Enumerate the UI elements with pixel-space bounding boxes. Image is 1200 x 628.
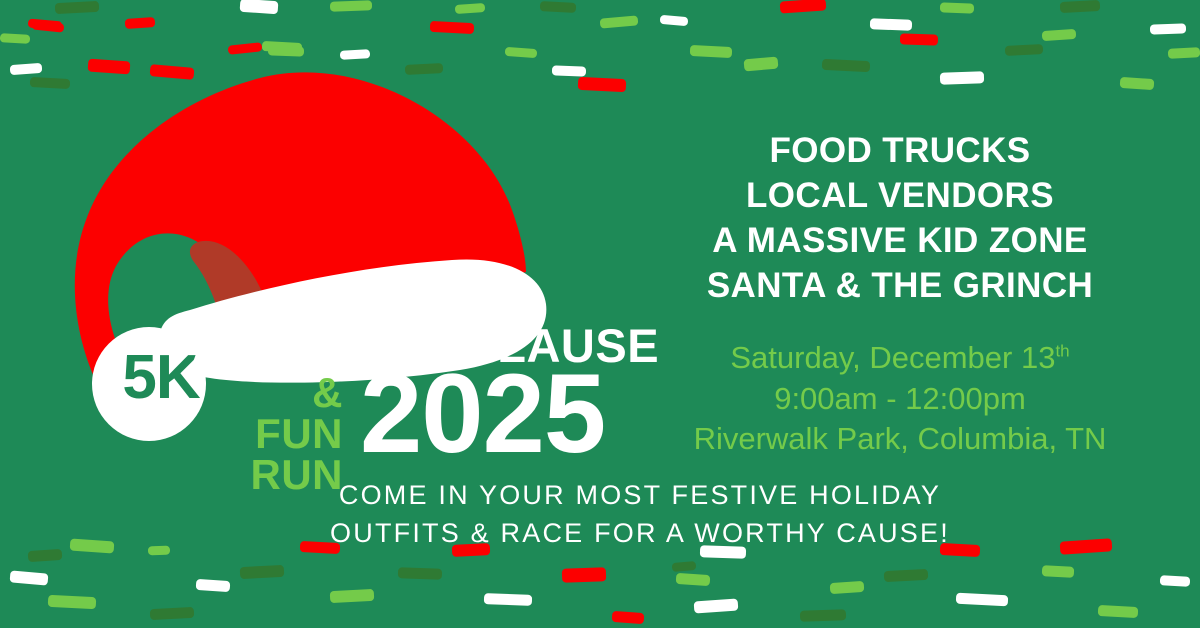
confetti-piece bbox=[330, 589, 375, 603]
event-details: Saturday, December 13th 9:00am - 12:00pm… bbox=[640, 338, 1160, 460]
confetti-piece bbox=[1160, 575, 1190, 587]
event-tagline: COME IN YOUR MOST FESTIVE HOLIDAY OUTFIT… bbox=[200, 476, 1080, 553]
confetti-piece bbox=[600, 15, 639, 28]
event-subtitle-line-1: & FUN bbox=[215, 372, 343, 454]
feature-item: SANTA & THE GRINCH bbox=[640, 263, 1160, 308]
confetti-piece bbox=[240, 565, 285, 579]
confetti-piece bbox=[800, 609, 846, 622]
confetti-piece bbox=[612, 611, 645, 624]
confetti-piece bbox=[48, 595, 97, 609]
confetti-piece bbox=[430, 21, 475, 34]
confetti-piece bbox=[676, 573, 711, 586]
confetti-piece bbox=[1042, 565, 1075, 578]
confetti-piece bbox=[70, 538, 115, 553]
feature-item: LOCAL VENDORS bbox=[640, 173, 1160, 218]
confetti-piece bbox=[330, 0, 372, 11]
event-tagline-line-2: OUTFITS & RACE FOR A WORTHY CAUSE! bbox=[200, 514, 1080, 552]
confetti-piece bbox=[660, 15, 689, 26]
confetti-piece bbox=[694, 598, 739, 613]
confetti-piece bbox=[148, 546, 170, 556]
confetti-piece bbox=[1098, 605, 1139, 618]
confetti-piece bbox=[1120, 77, 1155, 90]
confetti-piece bbox=[340, 49, 370, 60]
confetti-piece bbox=[262, 41, 302, 53]
confetti-piece bbox=[150, 607, 195, 620]
event-date: Saturday, December 13th bbox=[640, 338, 1160, 379]
event-year: 2025 bbox=[360, 358, 605, 470]
feature-item: A MASSIVE KID ZONE bbox=[640, 218, 1160, 263]
feature-item: FOOD TRUCKS bbox=[640, 128, 1160, 173]
confetti-piece bbox=[484, 593, 532, 606]
confetti-piece bbox=[690, 45, 733, 58]
confetti-piece bbox=[1060, 0, 1101, 13]
confetti-piece bbox=[940, 71, 984, 85]
confetti-piece bbox=[28, 549, 63, 562]
event-date-ordinal: th bbox=[1055, 342, 1069, 361]
confetti-piece bbox=[268, 45, 304, 56]
confetti-piece bbox=[562, 567, 606, 583]
confetti-piece bbox=[780, 0, 827, 14]
confetti-piece bbox=[1150, 23, 1186, 34]
confetti-piece bbox=[240, 0, 279, 14]
confetti-piece bbox=[32, 20, 65, 32]
event-time: 9:00am - 12:00pm bbox=[640, 379, 1160, 420]
confetti-piece bbox=[10, 570, 49, 585]
event-tagline-line-1: COME IN YOUR MOST FESTIVE HOLIDAY bbox=[200, 476, 1080, 514]
confetti-piece bbox=[398, 567, 442, 580]
event-date-text: Saturday, December 13 bbox=[730, 340, 1055, 375]
confetti-piece bbox=[1168, 47, 1200, 59]
confetti-piece bbox=[10, 63, 43, 75]
features-list: FOOD TRUCKS LOCAL VENDORS A MASSIVE KID … bbox=[640, 128, 1160, 309]
confetti-piece bbox=[870, 18, 912, 30]
confetti-piece bbox=[884, 569, 929, 582]
confetti-piece bbox=[228, 42, 263, 55]
confetti-piece bbox=[28, 19, 63, 31]
confetti-piece bbox=[744, 57, 779, 72]
confetti-piece bbox=[830, 581, 865, 594]
confetti-piece bbox=[940, 2, 974, 13]
confetti-piece bbox=[956, 593, 1009, 607]
confetti-piece bbox=[540, 1, 576, 13]
confetti-piece bbox=[822, 59, 871, 72]
confetti-piece bbox=[900, 33, 938, 45]
confetti-piece bbox=[672, 561, 697, 572]
confetti-piece bbox=[1042, 29, 1077, 41]
confetti-piece bbox=[125, 17, 156, 29]
confetti-piece bbox=[578, 77, 627, 92]
confetti-piece bbox=[0, 33, 30, 44]
confetti-piece bbox=[55, 1, 100, 14]
event-location: Riverwalk Park, Columbia, TN bbox=[640, 419, 1160, 460]
confetti-piece bbox=[196, 579, 231, 592]
event-flyer: 5K A WORTHY CLAUSE & FUN RUN 2025 FOOD T… bbox=[0, 0, 1200, 628]
confetti-piece bbox=[455, 3, 486, 14]
confetti-piece bbox=[505, 47, 538, 58]
confetti-piece bbox=[1005, 44, 1043, 56]
